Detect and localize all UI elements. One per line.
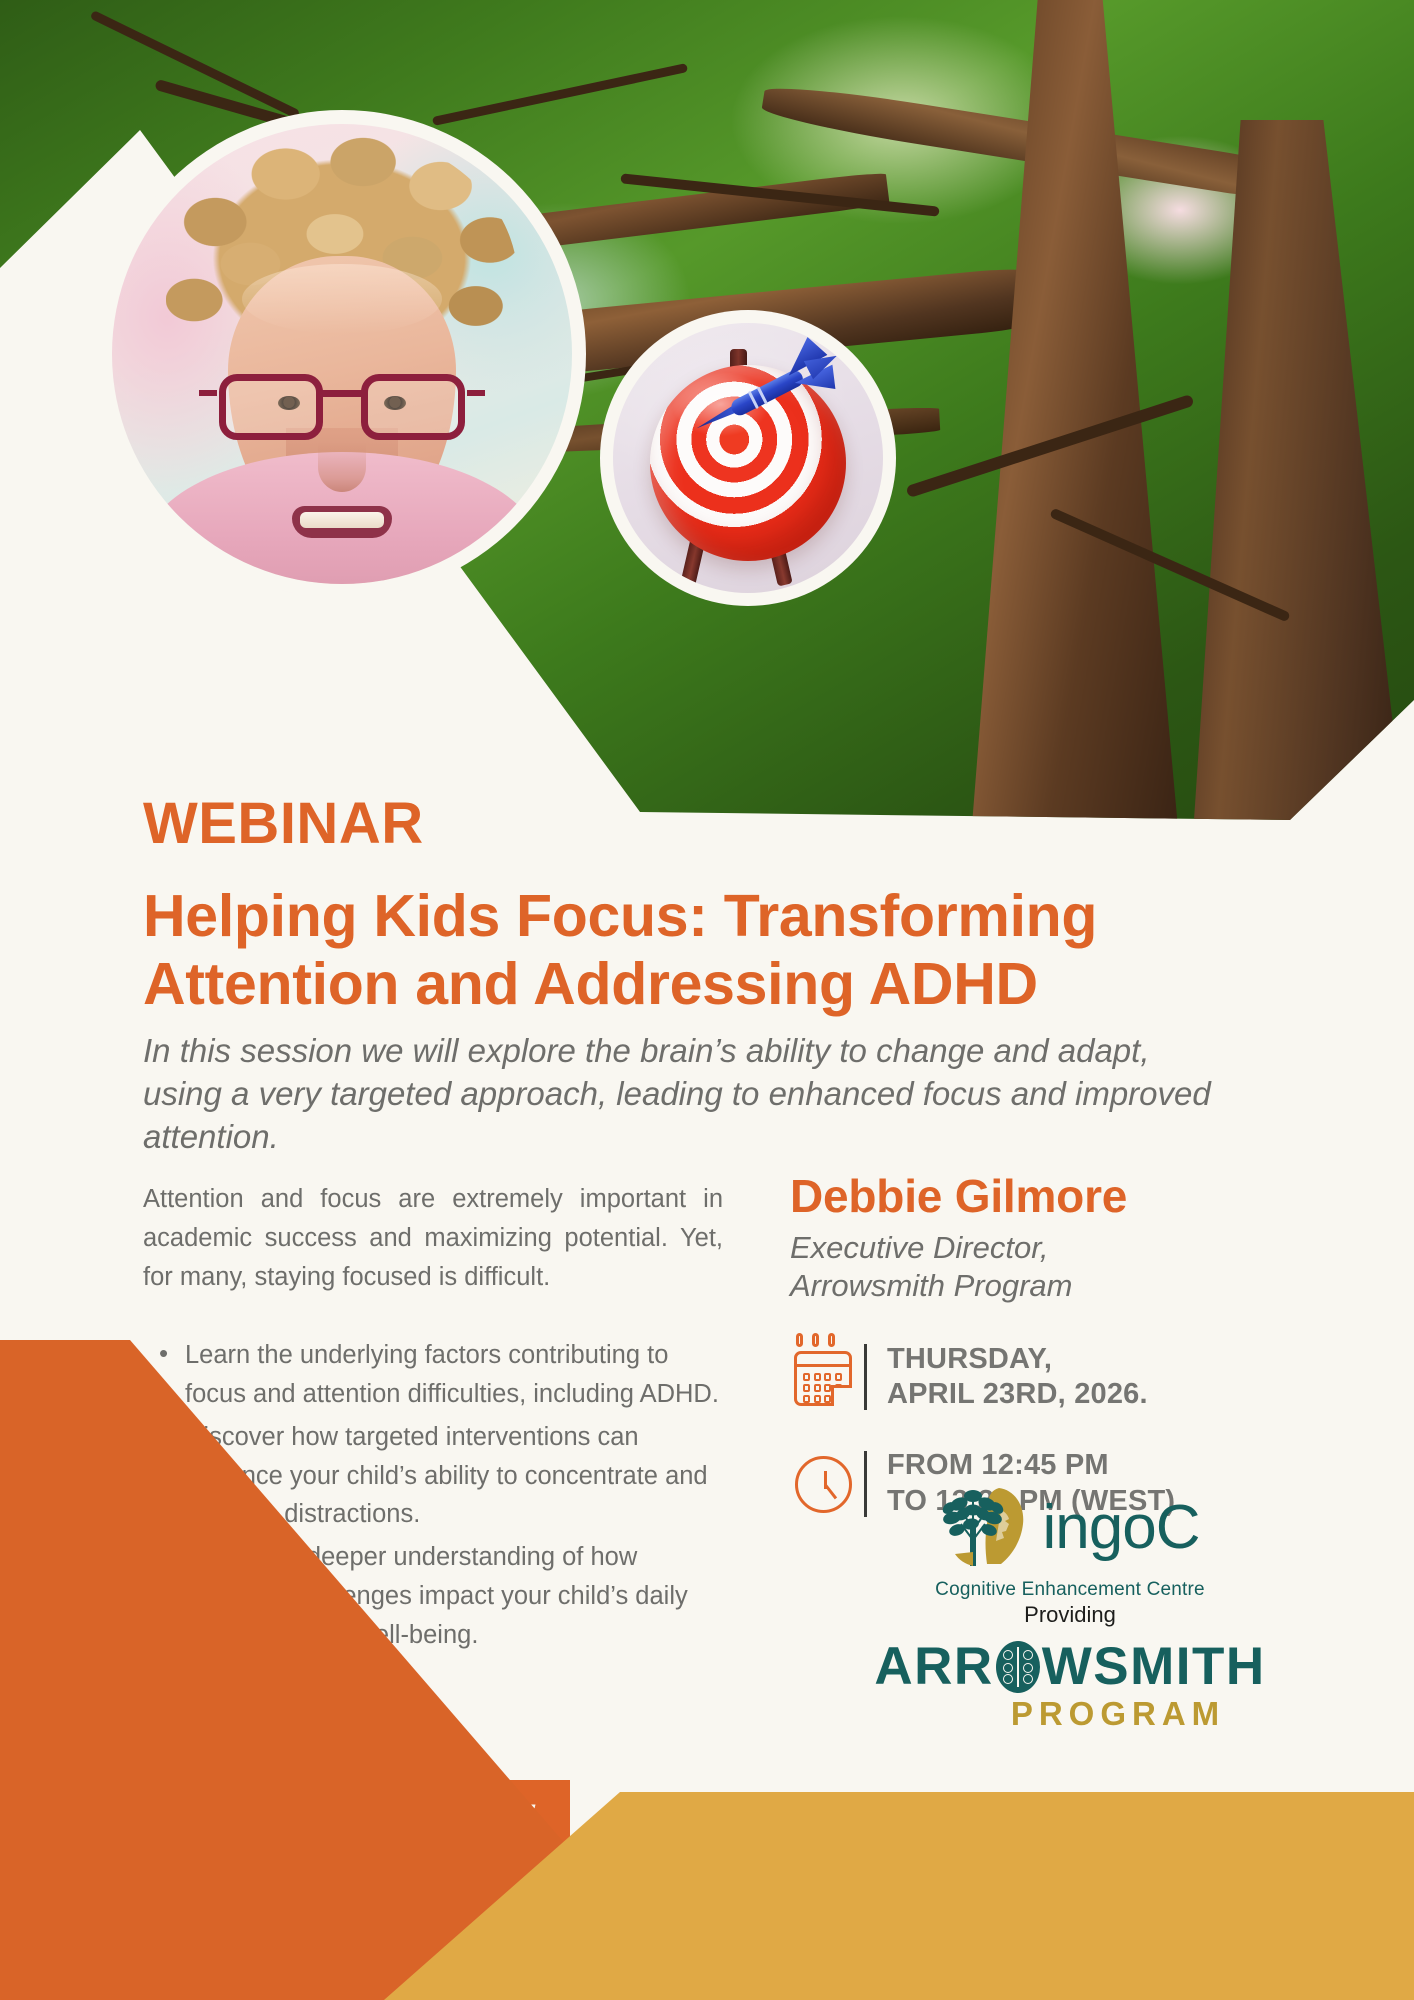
teeth	[300, 512, 384, 529]
lens	[361, 374, 465, 440]
speaker-portrait-photo	[112, 124, 572, 584]
brain-icon	[996, 1641, 1040, 1693]
avatar	[98, 110, 586, 598]
list-item: Learn the underlying factors contributin…	[185, 1336, 723, 1414]
face-highlight	[242, 264, 442, 334]
ingoc-lockup: ingoC	[941, 1480, 1200, 1577]
arrowsmith-text-post: WSMITH	[1042, 1640, 1266, 1693]
calendar-icon	[790, 1343, 858, 1411]
event-date-row: THURSDAY, APRIL 23RD, 2026.	[790, 1342, 1350, 1413]
nose	[318, 442, 366, 492]
divider	[864, 1344, 867, 1410]
event-date-text: THURSDAY, APRIL 23RD, 2026.	[887, 1342, 1148, 1413]
tree-head-profile-icon	[941, 1480, 1037, 1577]
eyebrow-label: WEBINAR	[143, 795, 424, 853]
intro-paragraph: Attention and focus are extremely import…	[143, 1180, 723, 1296]
providing-label: Providing	[790, 1602, 1350, 1628]
dartboard-with-dart-image	[613, 323, 883, 593]
lens	[219, 374, 323, 440]
temple	[467, 390, 485, 396]
arrowsmith-logo: ARR WSMITH PROGRAM	[790, 1640, 1350, 1733]
speaker-role-line-2: Arrowsmith Program	[790, 1267, 1350, 1305]
event-date-line-2: APRIL 23RD, 2026.	[887, 1377, 1148, 1412]
temple	[199, 390, 217, 396]
right-column: Debbie Gilmore Executive Director, Arrow…	[790, 1172, 1350, 1519]
arrowsmith-text-pre: ARR	[874, 1640, 993, 1693]
page-title: Helping Kids Focus: Transforming Attenti…	[143, 882, 1268, 1019]
event-time-line-1: FROM 12:45 PM	[887, 1448, 1175, 1483]
webinar-poster: WEBINAR Helping Kids Focus: Transforming…	[0, 0, 1414, 2000]
mouth	[292, 506, 392, 538]
ingoc-tagline: Cognitive Enhancement Centre	[790, 1579, 1350, 1601]
ingoc-wordmark: ingoC	[1043, 1499, 1200, 1558]
speaker-name: Debbie Gilmore	[790, 1172, 1350, 1222]
speaker-role: Executive Director, Arrowsmith Program	[790, 1229, 1350, 1306]
session-summary: In this session we will explore the brai…	[143, 1030, 1233, 1159]
event-date-line-1: THURSDAY,	[887, 1342, 1148, 1377]
speaker-role-line-1: Executive Director,	[790, 1229, 1350, 1267]
arrowsmith-subword: PROGRAM	[790, 1695, 1350, 1733]
bridge	[318, 390, 366, 397]
eyeglasses-icon	[215, 374, 469, 444]
ingoc-logo: ingoC Cognitive Enhancement Centre	[790, 1480, 1350, 1601]
arrowsmith-wordmark: ARR WSMITH	[874, 1640, 1265, 1693]
target-image-frame	[600, 310, 896, 606]
